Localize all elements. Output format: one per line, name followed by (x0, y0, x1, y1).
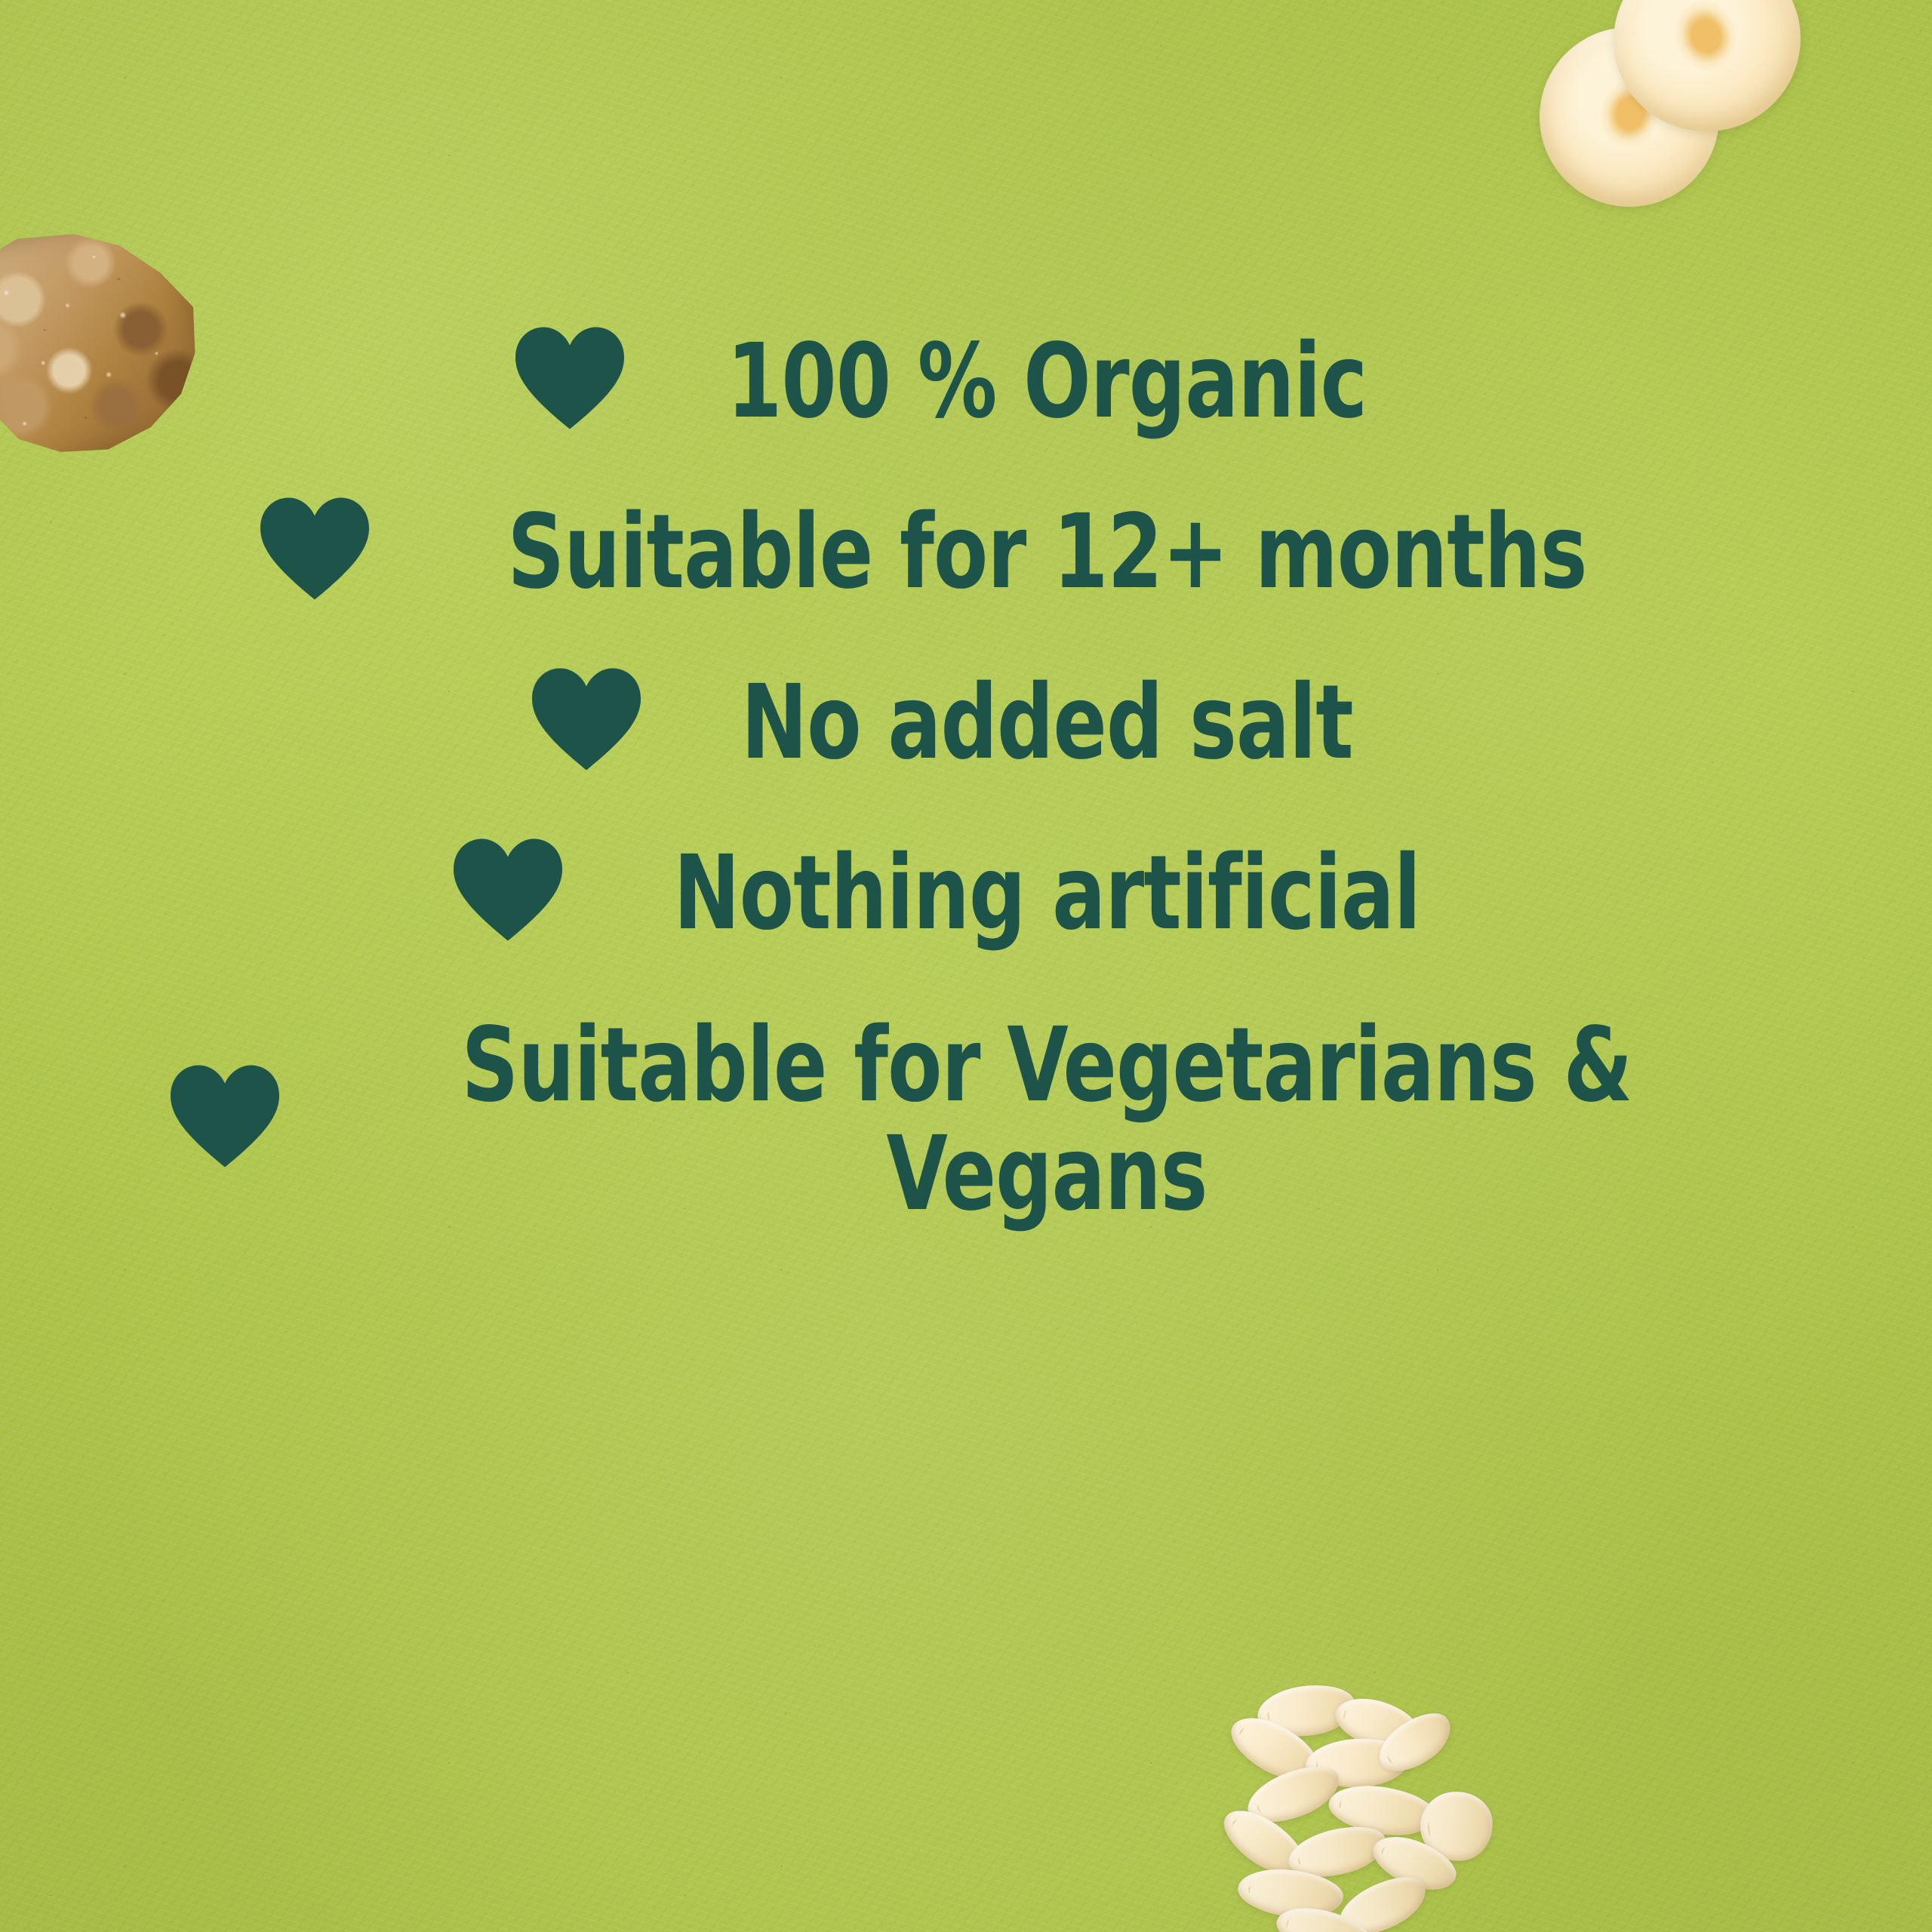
heart-icon (168, 1060, 281, 1173)
benefit-label: Suitable for Vegetarians & Vegans (430, 1011, 1663, 1229)
benefit-item-nothing-artificial: Nothing artificial (0, 841, 1932, 946)
benefit-label: Suitable for 12+ months (507, 500, 1586, 605)
benefit-item-age-suitability: Suitable for 12+ months (0, 500, 1932, 605)
heart-icon (258, 492, 371, 605)
banana-slices-image (1532, 0, 1932, 264)
benefits-list: 100 % Organic Suitable for 12+ months No… (0, 329, 1932, 1229)
benefit-item-vegetarian-vegan: Suitable for Vegetarians & Vegans (0, 1011, 1932, 1229)
benefit-item-organic: 100 % Organic (0, 329, 1932, 435)
benefit-label: 100 % Organic (727, 330, 1367, 435)
rolled-oat-flakes-image (1215, 1681, 1540, 1932)
benefit-label: No added salt (741, 671, 1353, 776)
heart-icon (451, 833, 565, 946)
benefit-item-no-added-salt: No added salt (0, 670, 1932, 776)
benefit-label: Nothing artificial (673, 841, 1420, 946)
heart-icon (530, 663, 643, 776)
product-benefits-panel: 100 % Organic Suitable for 12+ months No… (0, 0, 1932, 1932)
heart-icon (513, 321, 626, 435)
